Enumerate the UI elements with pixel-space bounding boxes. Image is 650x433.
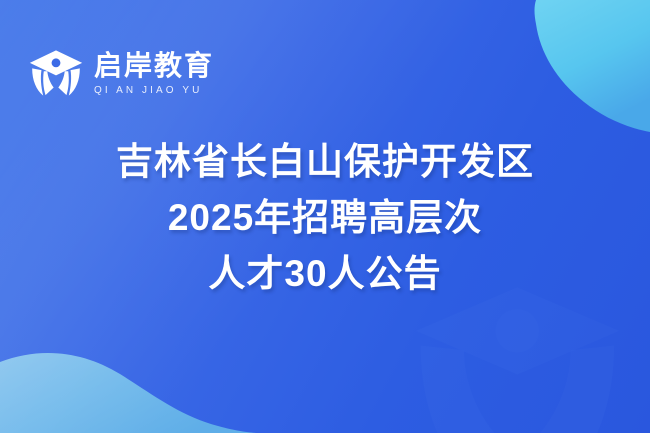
graduation-cap-logo-icon [28,48,84,98]
brand-logo: 启岸教育 QI AN JIAO YU [28,48,214,98]
brand-name-cn: 启岸教育 [94,51,214,81]
brand-logo-text: 启岸教育 QI AN JIAO YU [94,49,214,97]
poster-banner: 启岸教育 QI AN JIAO YU 吉林省长白山保护开发区 2025年招聘高层… [0,0,650,433]
headline-line-2: 2025年招聘高层次 [42,190,608,246]
headline-line-1: 吉林省长白山保护开发区 [42,134,608,190]
brand-name-pinyin: QI AN JIAO YU [94,85,214,97]
poster-headline: 吉林省长白山保护开发区 2025年招聘高层次 人才30人公告 [0,134,650,303]
headline-line-3: 人才30人公告 [42,246,608,302]
